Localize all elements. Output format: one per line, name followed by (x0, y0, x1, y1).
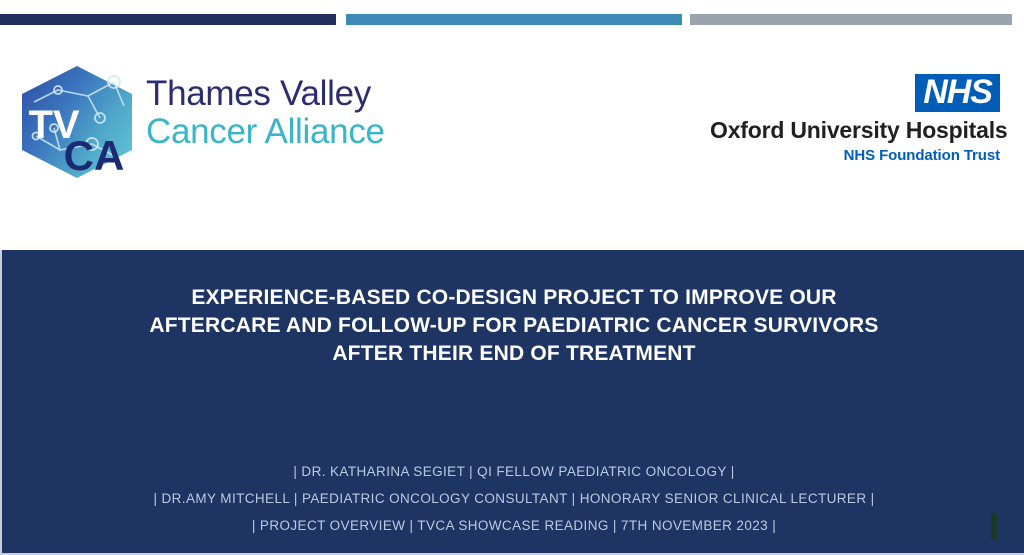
slide-title: EXPERIENCE-BASED CO-DESIGN PROJECT TO IM… (2, 284, 1024, 368)
title-line-3: AFTER THEIR END OF TREATMENT (2, 340, 1024, 368)
nhs-trust-type: NHS Foundation Trust (710, 147, 1000, 164)
title-line-2: AFTERCARE AND FOLLOW-UP FOR PAEDIATRIC C… (2, 312, 1024, 340)
tvca-wordmark-line2: Cancer Alliance (146, 114, 385, 149)
presentation-slide: TV CA Thames Valley Cancer Alliance NHS … (0, 0, 1024, 555)
credit-line-2: | DR.AMY MITCHELL | PAEDIATRIC ONCOLOGY … (2, 485, 1024, 512)
accent-bar-blue (346, 14, 682, 25)
corner-marker (991, 513, 997, 540)
credit-line-3: | PROJECT OVERVIEW | TVCA SHOWCASE READI… (2, 512, 1024, 539)
tvca-logo: TV CA Thames Valley Cancer Alliance (14, 62, 382, 182)
tvca-hexagon-icon: TV CA (14, 62, 140, 182)
tvca-wordmark: Thames Valley Cancer Alliance (146, 76, 385, 149)
nhs-logo-box: NHS (915, 74, 1000, 112)
logo-band: TV CA Thames Valley Cancer Alliance NHS … (0, 30, 1024, 250)
accent-bar-navy (0, 14, 336, 25)
nhs-logo: NHS Oxford University Hospitals NHS Foun… (710, 74, 1000, 184)
credit-line-1: | DR. KATHARINA SEGIET | QI FELLOW PAEDI… (2, 458, 1024, 485)
accent-bar-strip (0, 0, 1024, 30)
slide-content-band: EXPERIENCE-BASED CO-DESIGN PROJECT TO IM… (0, 250, 1024, 555)
title-line-1: EXPERIENCE-BASED CO-DESIGN PROJECT TO IM… (2, 284, 1024, 312)
tvca-mark-ca-text: CA (64, 132, 125, 179)
tvca-wordmark-line1: Thames Valley (146, 76, 385, 111)
nhs-trust-name: Oxford University Hospitals (710, 117, 1000, 144)
slide-credits: | DR. KATHARINA SEGIET | QI FELLOW PAEDI… (2, 458, 1024, 539)
accent-bar-gray (690, 14, 1012, 25)
